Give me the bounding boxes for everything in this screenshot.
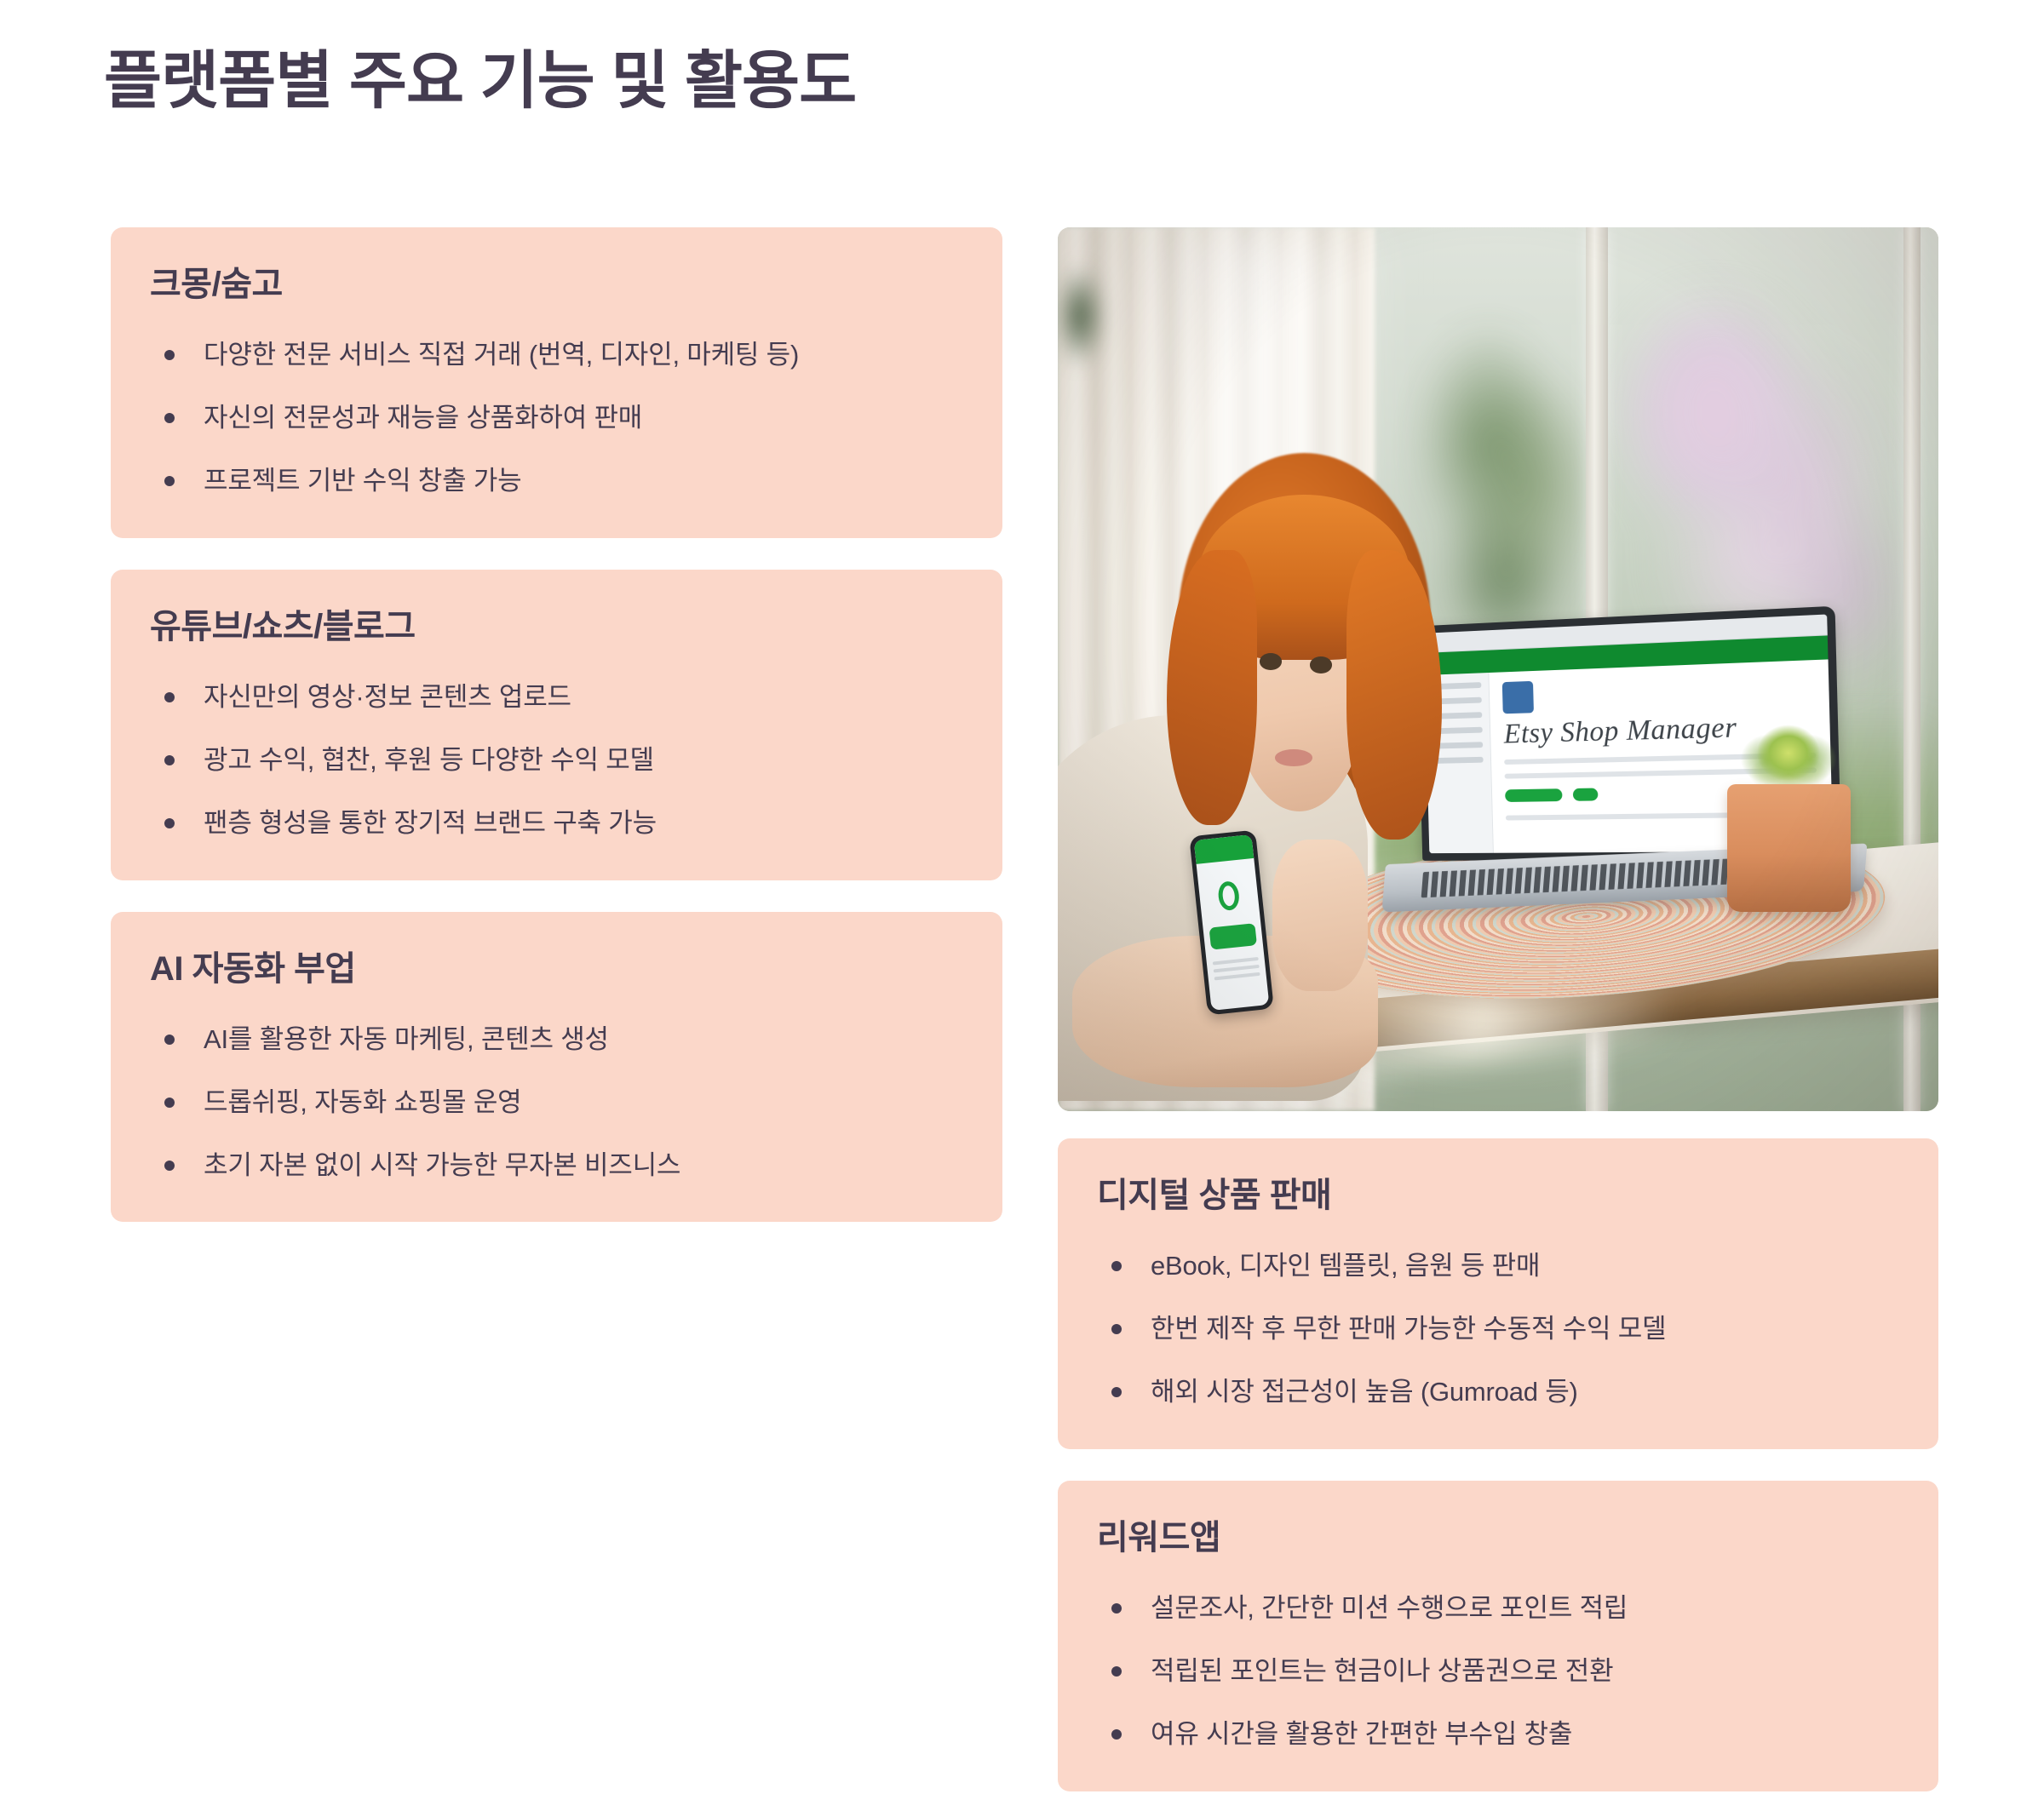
list-item-text: 여유 시간을 활용한 간편한 부수입 창출 [1151, 1719, 1572, 1749]
list-item-text: 한번 제작 후 무한 판매 가능한 수동적 수익 모델 [1151, 1314, 1666, 1344]
list-item: 한번 제작 후 무한 판매 가능한 수동적 수익 모델 [1097, 1310, 1899, 1349]
list-item: AI를 활용한 자동 마케팅, 콘텐츠 생성 [150, 1021, 963, 1059]
plant-leaf [1058, 245, 1111, 387]
card-reward-app: 리워드앱 설문조사, 간단한 미션 수행으로 포인트 적립 적립된 포인트는 현… [1058, 1481, 1938, 1791]
hero-photo: Etsy Shop Manager [1058, 227, 1938, 1111]
list-item: 드롭쉬핑, 자동화 쇼핑몰 운영 [150, 1084, 963, 1122]
bullet-dot-icon [1111, 1729, 1122, 1740]
card-bullet-list: 설문조사, 간단한 미션 수행으로 포인트 적립 적립된 포인트는 현금이나 상… [1097, 1590, 1899, 1754]
bullet-dot-icon [164, 692, 175, 702]
list-item: 해외 시장 접근성이 높음 (Gumroad 등) [1097, 1373, 1899, 1412]
woman-figure [1058, 439, 1569, 1111]
card-ai-automation-sidejob: AI 자동화 부업 AI를 활용한 자동 마케팅, 콘텐츠 생성 드롭쉬핑, 자… [111, 912, 1002, 1223]
bullet-dot-icon [1111, 1387, 1122, 1397]
lips [1275, 749, 1312, 765]
bullet-dot-icon [1111, 1324, 1122, 1334]
list-item: 적립된 포인트는 현금이나 상품권으로 전환 [1097, 1653, 1899, 1691]
smartphone-screen [1194, 834, 1269, 1010]
phone-app-header [1194, 834, 1254, 864]
card-bullet-list: 자신만의 영상·정보 콘텐츠 업로드 광고 수익, 협찬, 후원 등 다양한 수… [150, 679, 963, 843]
page-title: 플랫폼별 주요 기능 및 활용도 [104, 43, 856, 119]
list-item: 자신의 전문성과 재능을 상품화하여 판매 [150, 399, 963, 438]
phone-placeholder-row [1214, 972, 1260, 981]
list-item: 여유 시간을 활용한 간편한 부수입 창출 [1097, 1716, 1899, 1754]
progress-ring-icon [1217, 880, 1241, 911]
bullet-dot-icon [164, 1098, 175, 1108]
card-title: 리워드앱 [1097, 1516, 1899, 1559]
list-item: 광고 수익, 협찬, 후원 등 다양한 수익 모델 [150, 742, 963, 780]
phone-content-rows [1213, 957, 1261, 985]
phone-placeholder-row [1214, 965, 1260, 973]
list-item-text: 설문조사, 간단한 미션 수행으로 포인트 적립 [1151, 1593, 1628, 1623]
list-item-text: 초기 자본 없이 시작 가능한 무자본 비즈니스 [204, 1150, 680, 1180]
list-item: 설문조사, 간단한 미션 수행으로 포인트 적립 [1097, 1590, 1899, 1628]
list-item: 자신만의 영상·정보 콘텐츠 업로드 [150, 679, 963, 717]
app-action-button [1572, 788, 1598, 800]
list-item-text: 자신만의 영상·정보 콘텐츠 업로드 [204, 682, 571, 712]
bullet-dot-icon [1111, 1603, 1122, 1614]
bullet-dot-icon [164, 413, 175, 423]
terracotta-pot [1727, 784, 1851, 913]
card-title: 유튜브/쇼츠/블로그 [150, 605, 963, 648]
photo-scene: Etsy Shop Manager [1058, 227, 1938, 1111]
card-digital-product-sales: 디지털 상품 판매 eBook, 디자인 템플릿, 음원 등 판매 한번 제작 … [1058, 1138, 1938, 1449]
list-item-text: 다양한 전문 서비스 직접 거래 (번역, 디자인, 마케팅 등) [204, 340, 799, 370]
right-column: Etsy Shop Manager [1058, 227, 1938, 1791]
list-item-text: 해외 시장 접근성이 높음 (Gumroad 등) [1151, 1377, 1578, 1407]
bullet-dot-icon [164, 818, 175, 828]
card-bullet-list: 다양한 전문 서비스 직접 거래 (번역, 디자인, 마케팅 등) 자신의 전문… [150, 336, 963, 501]
list-item-text: 자신의 전문성과 재능을 상품화하여 판매 [204, 403, 642, 433]
bullet-dot-icon [164, 755, 175, 765]
bullet-dot-icon [164, 1161, 175, 1171]
list-item: eBook, 디자인 템플릿, 음원 등 판매 [1097, 1247, 1899, 1286]
list-item-text: eBook, 디자인 템플릿, 음원 등 판매 [1151, 1251, 1540, 1281]
list-item-text: AI를 활용한 자동 마케팅, 콘텐츠 생성 [204, 1024, 609, 1054]
hand [1272, 840, 1368, 991]
card-youtube-shorts-blog: 유튜브/쇼츠/블로그 자신만의 영상·정보 콘텐츠 업로드 광고 수익, 협찬,… [111, 570, 1002, 880]
bullet-dot-icon [164, 476, 175, 486]
bullet-dot-icon [164, 350, 175, 360]
infographic-page: 플랫폼별 주요 기능 및 활용도 크몽/숨고 다양한 전문 서비스 직접 거래 … [0, 0, 2044, 1817]
card-kmong-soomgo: 크몽/숨고 다양한 전문 서비스 직접 거래 (번역, 디자인, 마케팅 등) … [111, 227, 1002, 538]
list-item-text: 광고 수익, 협찬, 후원 등 다양한 수익 모델 [204, 745, 654, 775]
left-column: 크몽/숨고 다양한 전문 서비스 직접 거래 (번역, 디자인, 마케팅 등) … [111, 227, 1002, 1222]
list-item-text: 팬층 형성을 통한 장기적 브랜드 구축 가능 [204, 808, 657, 838]
list-item: 다양한 전문 서비스 직접 거래 (번역, 디자인, 마케팅 등) [150, 336, 963, 375]
phone-placeholder-row [1213, 957, 1259, 966]
card-bullet-list: eBook, 디자인 템플릿, 음원 등 판매 한번 제작 후 무한 판매 가능… [1097, 1247, 1899, 1412]
list-item: 팬층 형성을 통한 장기적 브랜드 구축 가능 [150, 805, 963, 843]
list-item: 초기 자본 없이 시작 가능한 무자본 비즈니스 [150, 1147, 963, 1185]
list-item-text: 프로젝트 기반 수익 창출 가능 [204, 466, 522, 496]
card-title: 디지털 상품 판매 [1097, 1174, 1899, 1217]
card-title: AI 자동화 부업 [150, 948, 963, 990]
bullet-dot-icon [1111, 1261, 1122, 1271]
phone-action-button [1209, 923, 1257, 950]
eye-left [1260, 653, 1282, 669]
card-bullet-list: AI를 활용한 자동 마케팅, 콘텐츠 생성 드롭쉬핑, 자동화 쇼핑몰 운영 … [150, 1021, 963, 1185]
eye-right [1310, 656, 1332, 673]
list-item: 프로젝트 기반 수익 창출 가능 [150, 462, 963, 501]
list-item-text: 드롭쉬핑, 자동화 쇼핑몰 운영 [204, 1087, 522, 1117]
card-title: 크몽/숨고 [150, 263, 963, 306]
bullet-dot-icon [1111, 1666, 1122, 1677]
bullet-dot-icon [164, 1035, 175, 1045]
list-item-text: 적립된 포인트는 현금이나 상품권으로 전환 [1151, 1656, 1613, 1686]
